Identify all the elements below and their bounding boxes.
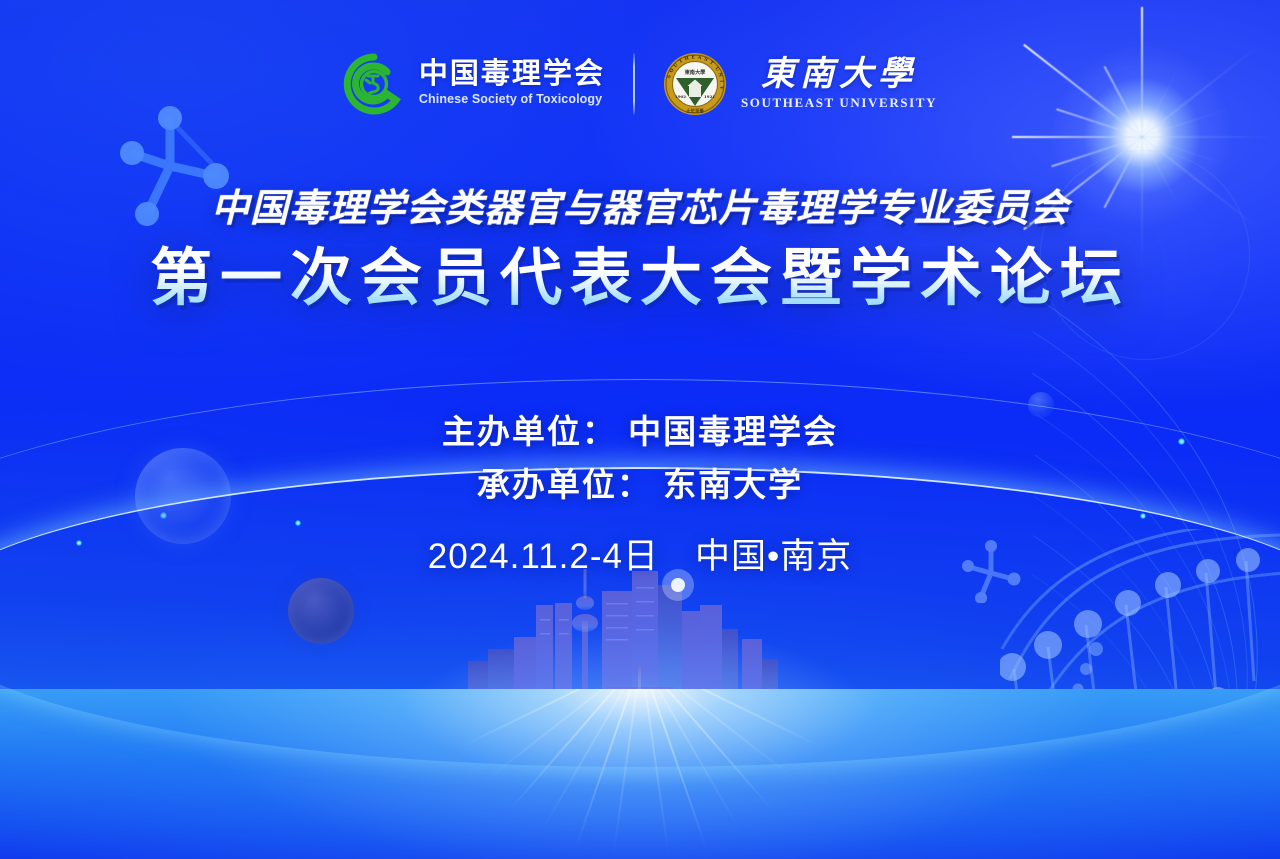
organizer-block: 主办单位： 中国毒理学会 承办单位： 东南大学 <box>0 405 1280 512</box>
organizer-host: 主办单位： 中国毒理学会 <box>0 405 1280 458</box>
event-date-location: 2024.11.2-4日 中国•南京 <box>428 537 852 576</box>
organizer-co-host: 承办单位： 东南大学 <box>0 458 1280 511</box>
southeast-university-seal: 東南大學 1902 1921 止於至善 S O U T H E A S <box>663 52 727 116</box>
title-line-2: 第一次会员代表大会暨学术论坛 <box>0 242 1280 316</box>
poster-title: 中国毒理学会类器官与器官芯片毒理学专业委员会 第一次会员代表大会暨学术论坛 <box>0 186 1280 316</box>
society-logo-text: 中国毒理学会 Chinese Society of Toxicology <box>419 59 605 109</box>
conference-poster: 中国毒理学会 Chinese Society of Toxicology <box>0 0 1280 859</box>
society-logo: 中国毒理学会 Chinese Society of Toxicology <box>343 53 605 115</box>
svg-text:止於至善: 止於至善 <box>686 108 704 115</box>
university-name-cn: 東南大學 <box>761 55 917 94</box>
event-datebar: 2024.11.2-4日 中国•南京 <box>0 528 1280 579</box>
svg-text:1921: 1921 <box>704 94 715 99</box>
university-logo: 東南大學 1902 1921 止於至善 S O U T H E A S <box>663 52 937 116</box>
university-name-en: SOUTHEAST UNIVERSITY <box>741 94 937 112</box>
university-logo-text: 東南大學 SOUTHEAST UNIVERSITY <box>741 55 937 112</box>
society-name-cn: 中国毒理学会 <box>419 59 605 90</box>
toxicology-circle-logo <box>343 53 405 115</box>
society-name-en: Chinese Society of Toxicology <box>419 90 602 109</box>
logo-header: 中国毒理学会 Chinese Society of Toxicology <box>0 52 1280 116</box>
svg-text:1902: 1902 <box>675 94 686 99</box>
logo-divider <box>633 53 635 115</box>
title-line-1: 中国毒理学会类器官与器官芯片毒理学专业委员会 <box>0 186 1280 234</box>
svg-text:東南大學: 東南大學 <box>685 68 707 76</box>
